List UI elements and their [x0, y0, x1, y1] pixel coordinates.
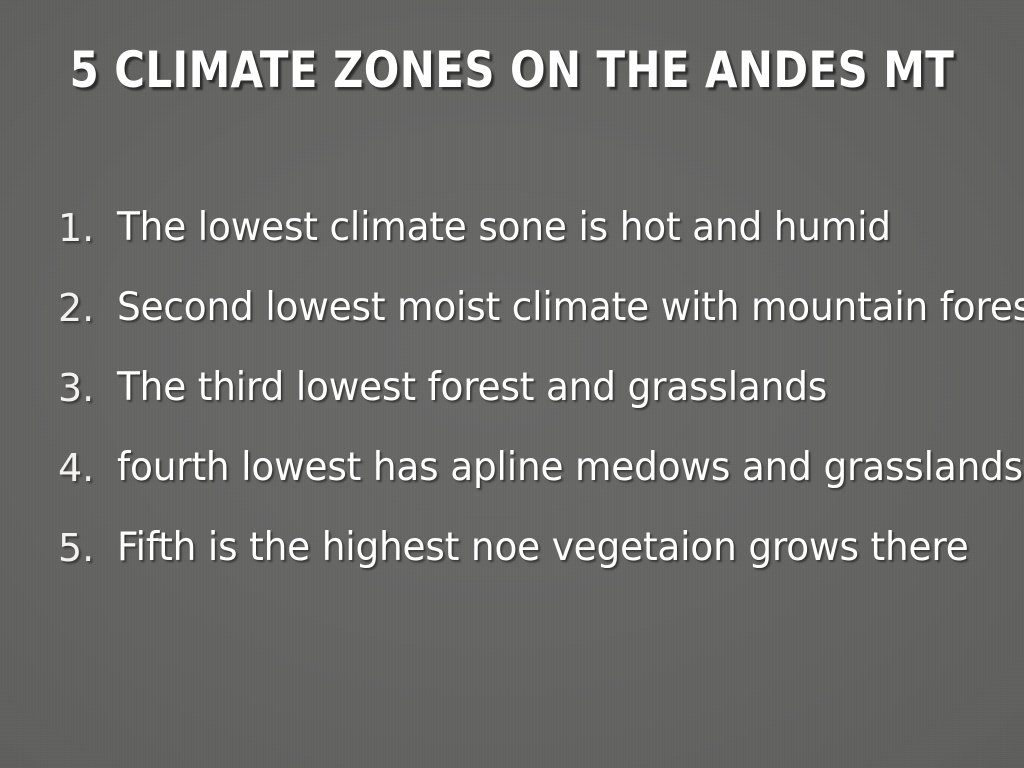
- list-item: 5. Fifth is the highest noe vegetaion gr…: [0, 516, 1024, 596]
- list-item: 2. Second lowest moist climate with moun…: [0, 276, 1024, 356]
- list-item-number: 5.: [58, 528, 102, 568]
- list-item: 3. The third lowest forest and grassland…: [0, 356, 1024, 436]
- list-item-number: 2.: [58, 288, 102, 328]
- list-item: 1. The lowest climate sone is hot and hu…: [0, 196, 1024, 276]
- numbered-list: 1. The lowest climate sone is hot and hu…: [0, 196, 1024, 596]
- list-item-number: 1.: [58, 208, 102, 248]
- list-item-text: The third lowest forest and grasslands: [117, 366, 827, 410]
- list-item-text: Fifth is the highest noe vegetaion grows…: [117, 526, 969, 570]
- list-item-text: Second lowest moist climate with mountai…: [117, 286, 1024, 330]
- slide-title: 5 CLIMATE ZONES ON THE ANDES MT: [36, 42, 988, 98]
- list-item-number: 4.: [58, 448, 102, 488]
- list-item-text: The lowest climate sone is hot and humid: [117, 206, 891, 250]
- list-item-text: fourth lowest has apline medows and gras…: [117, 446, 1023, 490]
- presentation-slide: 5 CLIMATE ZONES ON THE ANDES MT 1. The l…: [0, 0, 1024, 768]
- list-item: 4. fourth lowest has apline medows and g…: [0, 436, 1024, 516]
- list-item-number: 3.: [58, 368, 102, 408]
